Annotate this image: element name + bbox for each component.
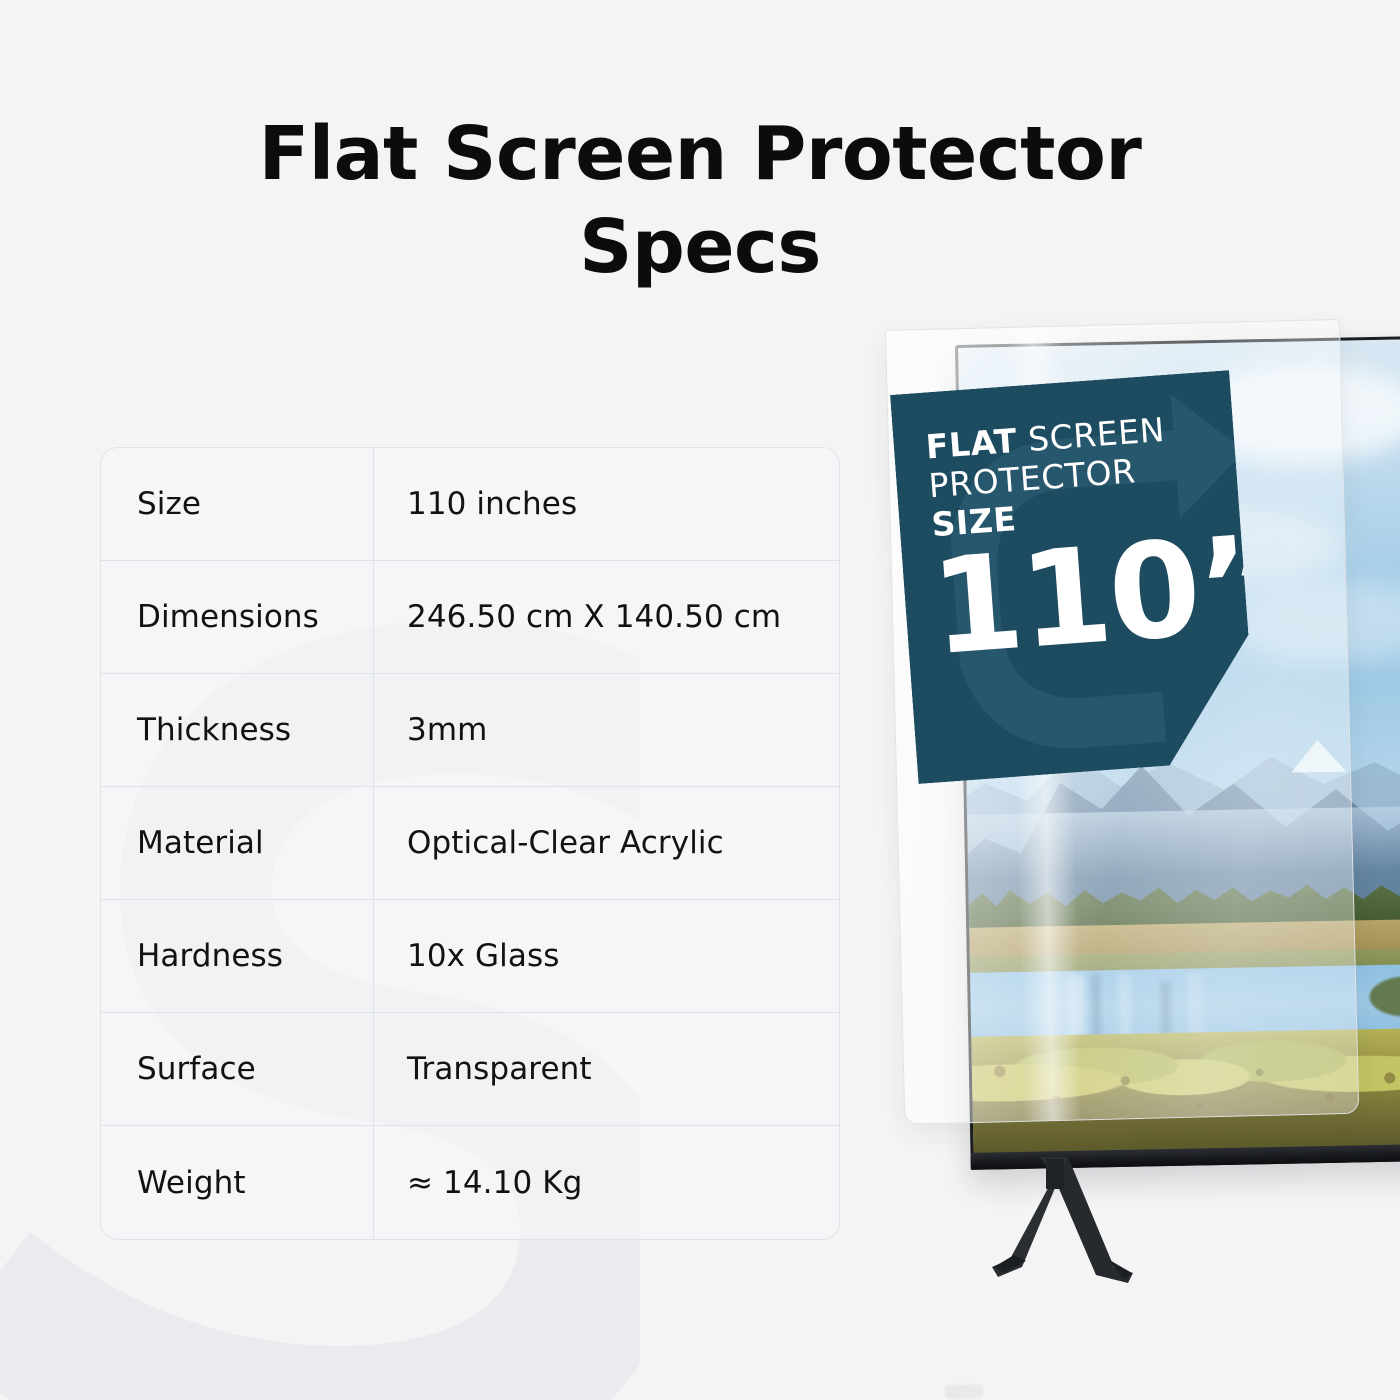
spec-value: Optical-Clear Acrylic <box>374 787 839 899</box>
spec-value: 110 inches <box>374 448 839 560</box>
tv-stand <box>918 1155 1178 1300</box>
table-row: Material Optical-Clear Acrylic <box>101 787 839 900</box>
table-row: Dimensions 246.50 cm X 140.50 cm <box>101 561 839 674</box>
spec-label: Size <box>101 448 374 560</box>
table-row: Thickness 3mm <box>101 674 839 787</box>
infographic-canvas: Flat Screen Protector Specs Size 110 inc… <box>0 0 1400 1400</box>
spec-value: 246.50 cm X 140.50 cm <box>374 561 839 673</box>
spec-label: Surface <box>101 1013 374 1125</box>
table-row: Hardness 10x Glass <box>101 900 839 1013</box>
table-row: Weight ≈ 14.10 Kg <box>101 1126 839 1239</box>
page-title: Flat Screen Protector Specs <box>190 108 1210 294</box>
table-row: Size 110 inches <box>101 448 839 561</box>
product-image: FLAT SCREEN PROTECTOR SIZE 110” <box>880 300 1400 1320</box>
spec-label: Material <box>101 787 374 899</box>
spec-value: 10x Glass <box>374 900 839 1012</box>
spec-label: Weight <box>101 1126 374 1239</box>
spec-label: Hardness <box>101 900 374 1012</box>
spec-table: Size 110 inches Dimensions 246.50 cm X 1… <box>100 447 840 1240</box>
badge-size-value: 110” <box>927 521 1236 675</box>
spec-label: Thickness <box>101 674 374 786</box>
protector-clip <box>943 1382 985 1400</box>
spec-value: 3mm <box>374 674 839 786</box>
spec-value: ≈ 14.10 Kg <box>374 1126 839 1239</box>
table-row: Surface Transparent <box>101 1013 839 1126</box>
spec-value: Transparent <box>374 1013 839 1125</box>
badge-line1-bold: FLAT <box>924 421 1018 467</box>
spec-label: Dimensions <box>101 561 374 673</box>
